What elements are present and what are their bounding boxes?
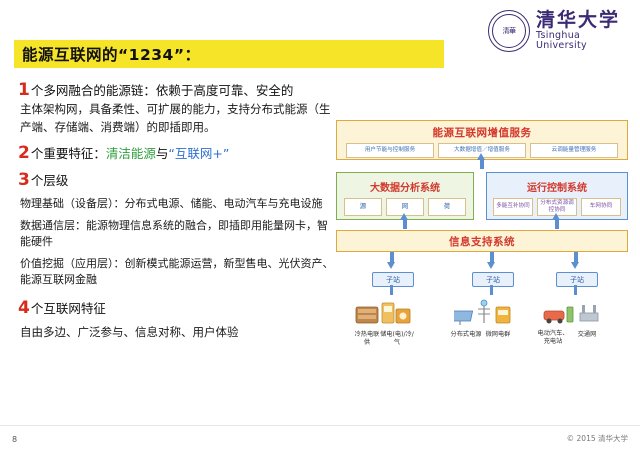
substation-1-label: 子站 (386, 275, 400, 285)
substation-1: 子站 (372, 272, 414, 287)
control-cell-3-label: 车网协同 (590, 203, 612, 210)
substation-stem-3 (574, 252, 578, 262)
architecture-diagram: 能源互联网增值服务 用户节能与控制服务 大数据增值／增值服务 云调能量管理服务 … (336, 120, 628, 370)
connector-stem-services (480, 160, 484, 169)
substation-stem-1 (390, 252, 394, 262)
tsinghua-logo: 清華 清华大学 Tsinghua University (488, 8, 630, 54)
content-column: 1 个多网融合的能源链：依赖于高度可靠、安全的 主体架构网，具备柔性、可扩展的能… (18, 80, 336, 345)
substation-2: 子站 (472, 272, 514, 287)
device-stem-1 (390, 285, 393, 295)
connector-arrow-bigdata (400, 213, 408, 220)
big-data-system-title: 大数据分析系统 (370, 179, 440, 194)
point-3-sub-3: 价值挖掘（应用层）：创新模式能源运营，新型售电、光伏资产、能源互联网金融 (20, 256, 336, 289)
slide-root: 清華 清华大学 Tsinghua University 能源互联网的“1234”… (0, 0, 640, 452)
point-3-sub-1: 物理基础（设备层）：分布式电源、储能、电动汽车与充电设施 (20, 196, 336, 213)
point-4-body: 自由多边、广泛参与、信息对称、用户体验 (20, 324, 336, 342)
page-title: 能源互联网的“1234”： (14, 43, 201, 65)
point-2-label: 个重要特征： (31, 146, 106, 161)
device-label-4: 微网电群 (482, 331, 514, 339)
substation-3: 子站 (556, 272, 598, 287)
point-4-headline: 个互联网特征 (31, 298, 106, 319)
seal-text: 清華 (489, 26, 529, 36)
substation-2-label: 子站 (486, 275, 500, 285)
point-3-sub-2: 数据通信层：能源物理信息系统的融合，即插即用能量网卡，智能硬件 (20, 218, 336, 251)
point-2-blue-text: “互联网+” (168, 146, 229, 161)
service-cell-1: 用户节能与控制服务 (346, 143, 434, 158)
tsinghua-seal-icon: 清華 (488, 10, 530, 52)
device-icon-group-3 (542, 295, 600, 329)
operation-control-system-title: 运行控制系统 (527, 179, 587, 194)
point-2-headline: 个重要特征：清洁能源与“互联网+” (31, 143, 229, 164)
device-label-1: 冷热电联供 (352, 331, 382, 347)
device-label-6: 交通网 (572, 331, 602, 339)
point-2-conjunction: 与 (156, 146, 169, 161)
page-number: 8 (12, 435, 17, 444)
point-3-number: 3 (18, 170, 30, 191)
service-cell-3: 云调能量管理服务 (530, 143, 618, 158)
big-data-cell-1: 源 (344, 198, 382, 216)
point-2-number: 2 (18, 143, 30, 164)
device-label-3: 分布式电源 (450, 331, 482, 339)
point-4-number: 4 (18, 298, 30, 319)
control-cell-2-label: 分布式资源调控协同 (539, 200, 575, 213)
service-cell-1-label: 用户节能与控制服务 (365, 147, 415, 154)
connector-arrow-services (477, 153, 485, 160)
substation-arrow-1 (387, 262, 395, 269)
point-1-headline: 个多网融合的能源链：依赖于高度可靠、安全的 (31, 80, 294, 101)
point-2-green-text: 清洁能源 (106, 146, 156, 161)
connector-arrow-control (552, 213, 560, 220)
substation-3-label: 子站 (570, 275, 584, 285)
value-added-services-title: 能源互联网增值服务 (433, 125, 532, 140)
device-label-5: 电动汽车、充电站 (536, 330, 570, 346)
big-data-cell-2-label: 网 (402, 203, 408, 211)
information-support-title: 信息支持系统 (449, 234, 515, 249)
logo-english-name: Tsinghua University (536, 31, 630, 51)
device-label-2: 储电(电)/冷/气 (380, 331, 414, 347)
point-3-headline: 个层级 (31, 170, 69, 191)
device-icon-group-2 (454, 295, 512, 329)
logo-text: 清华大学 Tsinghua University (536, 11, 630, 51)
substation-arrow-3 (571, 262, 579, 269)
slide-title-bar: 能源互联网的“1234”： (14, 40, 444, 68)
device-icon-group-1 (354, 295, 412, 329)
point-1-body: 主体架构网，具备柔性、可扩展的能力，支持分布式能源（生产端、存储端、消费端）的即… (20, 101, 336, 137)
control-cell-3: 车网协同 (581, 198, 621, 216)
substation-arrow-2 (487, 262, 495, 269)
control-cell-1-label: 多能互补协同 (496, 203, 530, 210)
point-4: 4 个互联网特征 自由多边、广泛参与、信息对称、用户体验 (18, 298, 336, 342)
substation-stem-2 (490, 252, 494, 262)
connector-stem-bigdata (403, 220, 407, 229)
point-2: 2 个重要特征：清洁能源与“互联网+” (18, 143, 336, 164)
device-stem-2 (490, 285, 493, 295)
service-cell-3-label: 云调能量管理服务 (552, 147, 597, 154)
connector-stem-control (555, 220, 559, 229)
point-3: 3 个层级 物理基础（设备层）：分布式电源、储能、电动汽车与充电设施 数据通信层… (18, 170, 336, 289)
big-data-cell-3: 荷 (428, 198, 466, 216)
footer-divider (0, 425, 640, 426)
copyright-text: © 2015 清华大学 (567, 433, 628, 444)
control-cell-1: 多能互补协同 (493, 198, 533, 216)
point-1-number: 1 (18, 80, 30, 101)
logo-chinese-name: 清华大学 (536, 11, 630, 31)
big-data-cell-1-label: 源 (360, 203, 366, 211)
big-data-cell-3-label: 荷 (444, 203, 450, 211)
device-stem-3 (574, 285, 577, 295)
point-1: 1 个多网融合的能源链：依赖于高度可靠、安全的 主体架构网，具备柔性、可扩展的能… (18, 80, 336, 137)
information-support-system: 信息支持系统 (336, 230, 628, 252)
